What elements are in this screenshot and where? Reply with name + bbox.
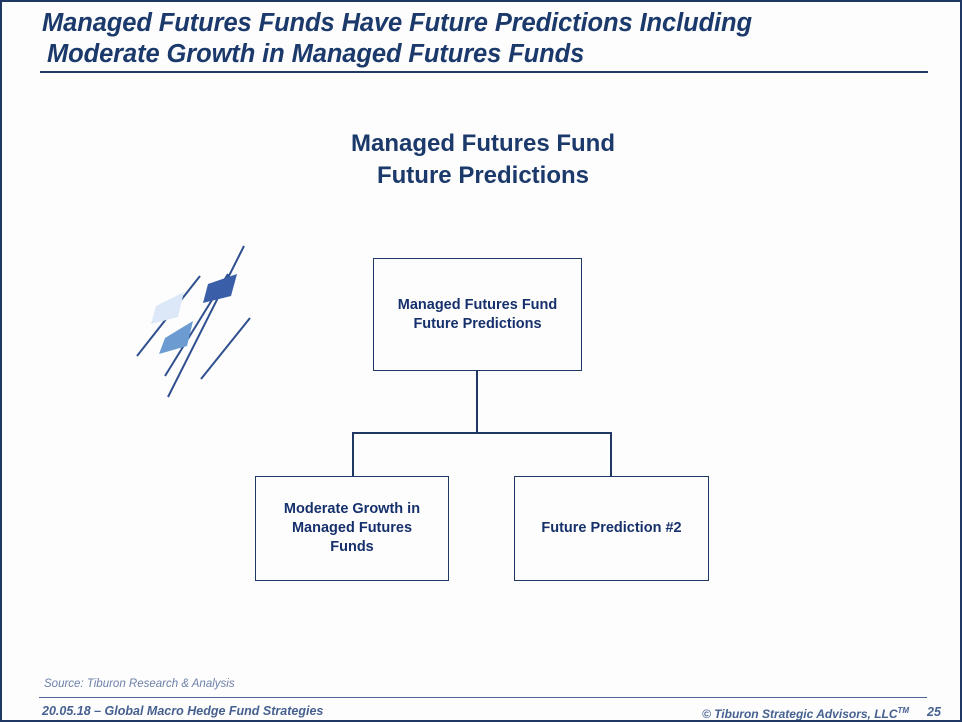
page-number: 25 xyxy=(927,705,941,719)
diagram-node-child1-line-3: Funds xyxy=(284,538,420,557)
connector-horizontal-bridge xyxy=(352,432,612,434)
footer-divider-rule xyxy=(39,697,927,698)
logo-parallelogram-light xyxy=(151,292,184,324)
slide-title-line-2: Moderate Growth in Managed Futures Funds xyxy=(42,39,932,70)
diagram-node-moderate-growth: Moderate Growth in Managed Futures Funds xyxy=(255,476,449,581)
body-heading: Managed Futures Fund Future Predictions xyxy=(233,128,733,192)
diagram-node-future-prediction-2: Future Prediction #2 xyxy=(514,476,709,581)
footer-document-label: 20.05.18 – Global Macro Hedge Fund Strat… xyxy=(42,704,323,718)
footer-copyright: © Tiburon Strategic Advisors, LLCTM xyxy=(702,706,909,721)
diagram-node-root-line-2: Future Predictions xyxy=(398,315,558,334)
connector-right-vertical xyxy=(610,432,612,477)
diagram-node-child2-line-1: Future Prediction #2 xyxy=(541,519,681,538)
tiburon-diagonal-logo-icon xyxy=(132,234,257,399)
diagram-node-child1-line-2: Managed Futures xyxy=(284,519,420,538)
logo-parallelogram-dark xyxy=(203,274,237,303)
footer-copyright-text: © Tiburon Strategic Advisors, LLC xyxy=(702,707,898,721)
slide-title: Managed Futures Funds Have Future Predic… xyxy=(42,8,932,70)
source-note: Source: Tiburon Research & Analysis xyxy=(44,678,235,690)
connector-root-vertical xyxy=(476,371,478,433)
slide-title-line-1: Managed Futures Funds Have Future Predic… xyxy=(42,8,932,39)
logo-parallelogram-medium xyxy=(159,321,193,354)
title-underline-rule xyxy=(40,71,928,73)
diagram-node-child1-line-1: Moderate Growth in xyxy=(284,500,420,519)
trademark-symbol: TM xyxy=(898,706,910,715)
diagram-node-root: Managed Futures Fund Future Predictions xyxy=(373,258,582,371)
connector-left-vertical xyxy=(352,432,354,477)
diagram-node-root-line-1: Managed Futures Fund xyxy=(398,296,558,315)
slide: Managed Futures Funds Have Future Predic… xyxy=(0,0,962,722)
body-heading-line-2: Future Predictions xyxy=(233,160,733,192)
body-heading-line-1: Managed Futures Fund xyxy=(233,128,733,160)
